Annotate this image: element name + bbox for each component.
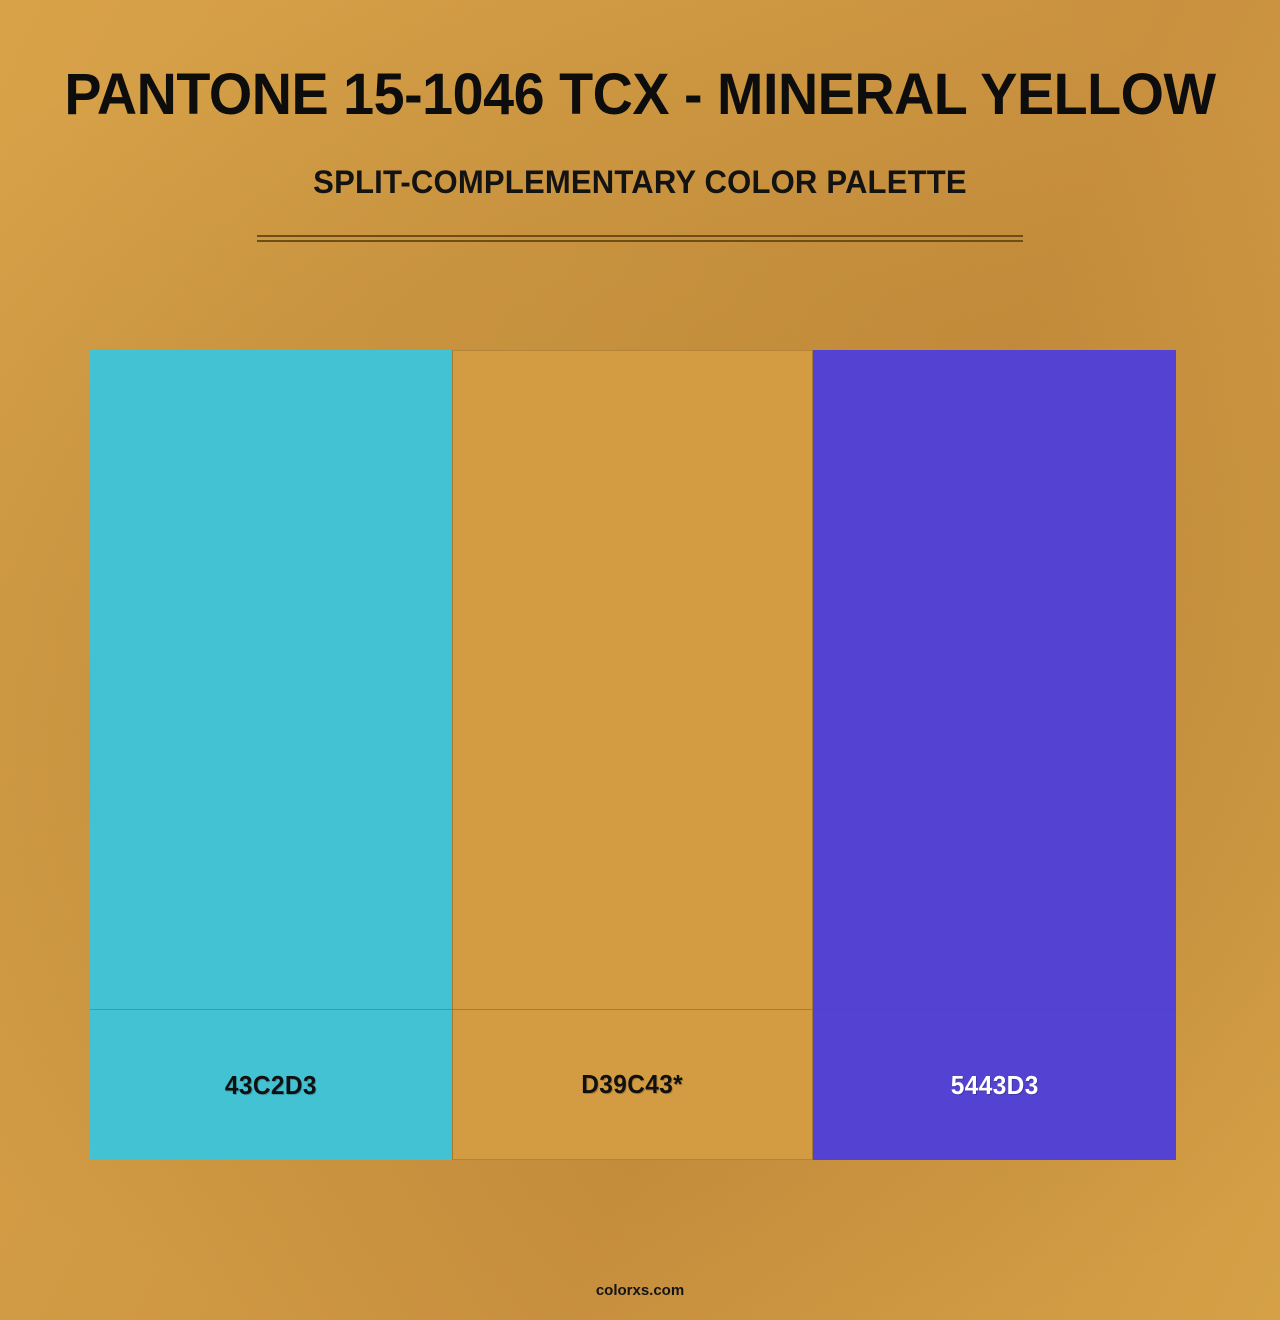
swatch-label-cell-2[interactable]: D39C43* <box>452 1009 813 1160</box>
swatch-color-block-1[interactable] <box>90 350 452 1009</box>
swatch-color-block-3[interactable] <box>813 350 1176 1009</box>
swatch-column-2[interactable]: D39C43* <box>452 350 813 1160</box>
page-title: PANTONE 15-1046 TCX - MINERAL YELLOW <box>26 66 1255 124</box>
swatch-column-1[interactable]: 43C2D3 <box>90 350 452 1160</box>
palette-swatch-grid: 43C2D3 D39C43* 5443D3 <box>90 350 1176 1160</box>
color-palette-page: PANTONE 15-1046 TCX - MINERAL YELLOW SPL… <box>0 0 1280 1320</box>
swatch-hex-label-1: 43C2D3 <box>225 1070 317 1101</box>
swatch-label-cell-1[interactable]: 43C2D3 <box>90 1009 452 1160</box>
swatch-hex-label-2: D39C43* <box>582 1069 684 1100</box>
swatch-hex-label-3: 5443D3 <box>951 1070 1039 1101</box>
swatch-label-cell-3[interactable]: 5443D3 <box>813 1009 1176 1160</box>
header: PANTONE 15-1046 TCX - MINERAL YELLOW SPL… <box>0 0 1280 242</box>
page-subtitle: SPLIT-COMPLEMENTARY COLOR PALETTE <box>19 124 1261 198</box>
swatch-color-block-2[interactable] <box>452 350 813 1009</box>
swatch-column-3[interactable]: 5443D3 <box>813 350 1176 1160</box>
title-divider <box>257 235 1023 242</box>
footer: colorxs.com <box>0 1260 1280 1320</box>
footer-site-name: colorxs.com <box>596 1282 684 1299</box>
